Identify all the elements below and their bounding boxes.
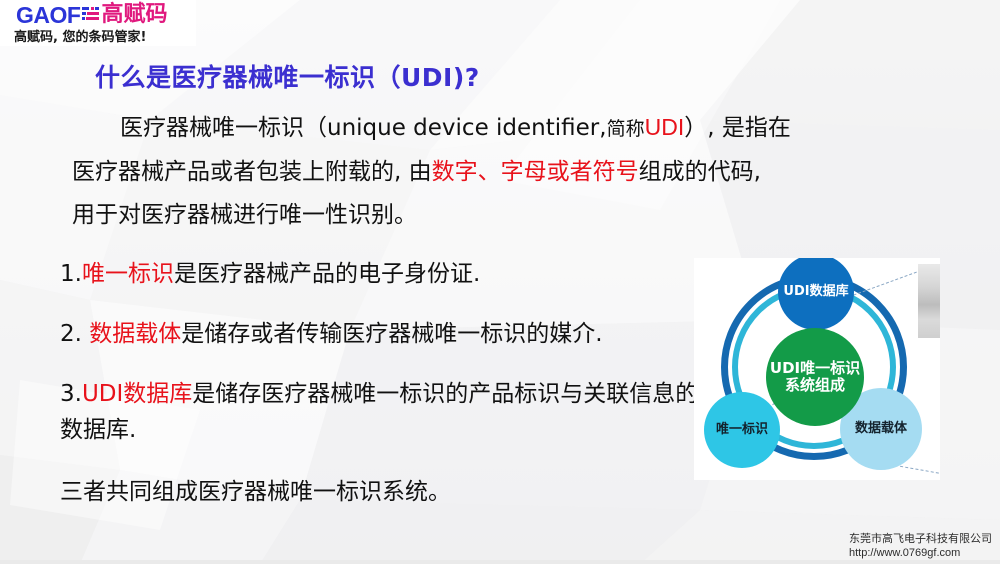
closing-statement: 三者共同组成医疗器械唯一标识系统。 xyxy=(60,474,700,510)
diagram-node-udi-database-label: UDI数据库 xyxy=(783,285,848,300)
diagram-node-data-carrier-label: 数据载体 xyxy=(855,422,907,437)
diagram-inner: UDI数据库 唯一标识 数据载体 UDI唯一标识 系统组成 xyxy=(694,258,940,480)
intro-line-2: 医疗器械产品或者包装上附载的, 由数字、字母或者符号组成的代码, xyxy=(72,151,902,194)
diagram-center-text: UDI唯一标识 系统组成 xyxy=(770,360,860,395)
footer-company: 东莞市高飞电子科技有限公司 xyxy=(849,531,992,546)
point-1-number: 1. xyxy=(60,261,82,287)
intro-udi-abbrev: UDI xyxy=(645,114,685,140)
diagram-center-line2: 系统组成 xyxy=(785,376,845,394)
point-2-text: 是储存或者传输医疗器械唯一标识的媒介. xyxy=(181,321,602,347)
footer: 东莞市高飞电子科技有限公司 http://www.0769gf.com xyxy=(849,531,992,560)
intro-line1-part-b: 简称 xyxy=(607,118,645,140)
list-item: 3.UDI数据库是储存医疗器械唯一标识的产品标识与关联信息的数据库. xyxy=(60,376,700,448)
point-2-highlight: 数据载体 xyxy=(89,321,181,347)
point-2-number: 2. xyxy=(60,321,89,347)
list-item: 2. 数据载体是储存或者传输医疗器械唯一标识的媒介. xyxy=(60,316,700,352)
list-item: 1.唯一标识是医疗器械产品的电子身份证. xyxy=(60,256,700,292)
point-3-number: 3. xyxy=(60,381,82,407)
points-list: 1.唯一标识是医疗器械产品的电子身份证. 2. 数据载体是储存或者传输医疗器械唯… xyxy=(60,256,700,510)
diagram-center-line1: UDI唯一标识 xyxy=(770,359,860,377)
barcode-icon xyxy=(82,6,99,24)
logo-tagline: 高赋码, 您的条码管家! xyxy=(14,26,146,45)
diagram-node-center[interactable]: UDI唯一标识 系统组成 xyxy=(766,328,864,426)
udi-system-diagram: UDI数据库 唯一标识 数据载体 UDI唯一标识 系统组成 xyxy=(694,258,940,480)
intro-code-chars: 数字、字母或者符号 xyxy=(432,159,639,185)
intro-line2-part-a: 医疗器械产品或者包装上附载的, 由 xyxy=(72,159,432,185)
bottom-divider xyxy=(0,560,1000,564)
footer-url[interactable]: http://www.0769gf.com xyxy=(849,546,992,560)
scrollbar-thumb[interactable] xyxy=(918,264,940,338)
logo-latin-text: GAOF xyxy=(16,3,80,27)
intro-line-3: 用于对医疗器械进行唯一性识别。 xyxy=(72,194,902,237)
intro-line2-part-c: 组成的代码, xyxy=(639,159,761,185)
diagram-node-unique-id[interactable]: 唯一标识 xyxy=(704,392,780,468)
intro-line-1: 医疗器械唯一标识（unique device identifier,简称UDI）… xyxy=(72,106,902,151)
logo-wordmark: GAOF 高赋码 xyxy=(16,3,167,27)
slide-canvas: GAOF 高赋码 高赋码, 您的条码管家! 什么是医疗器械唯一标识（UDI)? … xyxy=(0,0,1000,564)
point-1-text: 是医疗器械产品的电子身份证. xyxy=(174,261,480,287)
point-1-highlight: 唯一标识 xyxy=(82,261,174,287)
brand-logo[interactable]: GAOF 高赋码 高赋码, 您的条码管家! xyxy=(0,0,196,46)
diagram-node-unique-id-label: 唯一标识 xyxy=(716,423,768,438)
point-3-highlight: UDI数据库 xyxy=(82,381,192,407)
intro-paragraph: 医疗器械唯一标识（unique device identifier,简称UDI）… xyxy=(72,106,902,237)
page-title: 什么是医疗器械唯一标识（UDI)? xyxy=(95,58,480,94)
intro-line1-part-a: 医疗器械唯一标识（unique device identifier, xyxy=(120,115,607,141)
logo-chinese-text: 高赋码 xyxy=(101,3,167,27)
intro-line1-part-d: ）, 是指在 xyxy=(684,115,791,141)
